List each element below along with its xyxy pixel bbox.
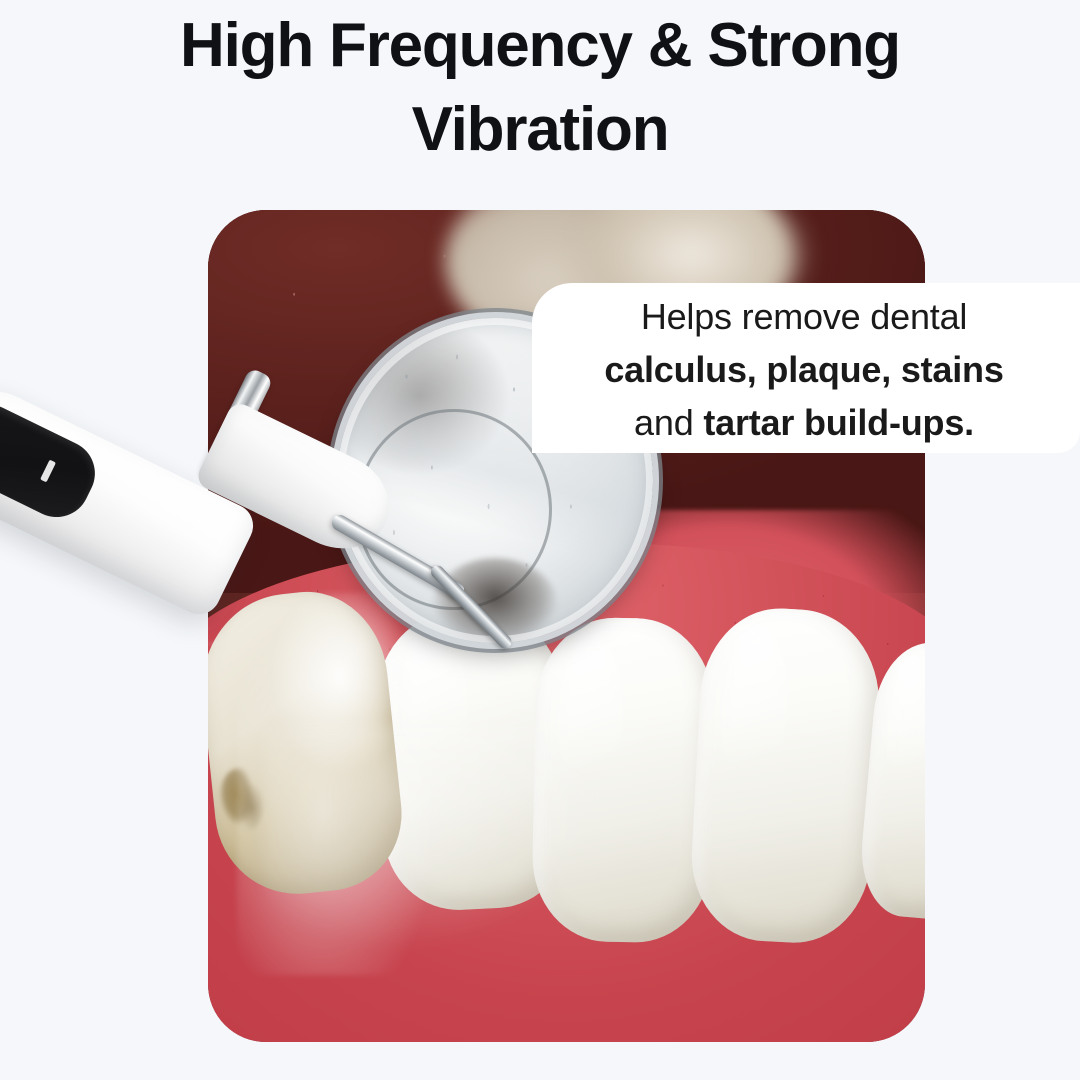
scaler-display-screen [0, 388, 106, 528]
feature-callout-card: Helps remove dental calculus, plaque, st… [532, 283, 1080, 453]
callout-line-3-emphasis: tartar build-ups. [703, 402, 974, 443]
callout-line-3: and tartar build-ups. [634, 397, 974, 448]
callout-line-2: calculus, plaque, stains [604, 344, 1003, 395]
scaler-handle-body [0, 371, 260, 622]
tooth-front-center [531, 616, 716, 944]
callout-line-1: Helps remove dental [641, 291, 967, 342]
feature-card: High Frequency & Strong Vibration [0, 0, 1080, 1080]
ultrasonic-scaler-device [0, 355, 408, 615]
tartar-deposit [216, 765, 267, 835]
tooth-front-right [687, 605, 883, 947]
callout-line-3-prefix: and [634, 402, 703, 443]
page-title: High Frequency & Strong Vibration [0, 4, 1080, 172]
